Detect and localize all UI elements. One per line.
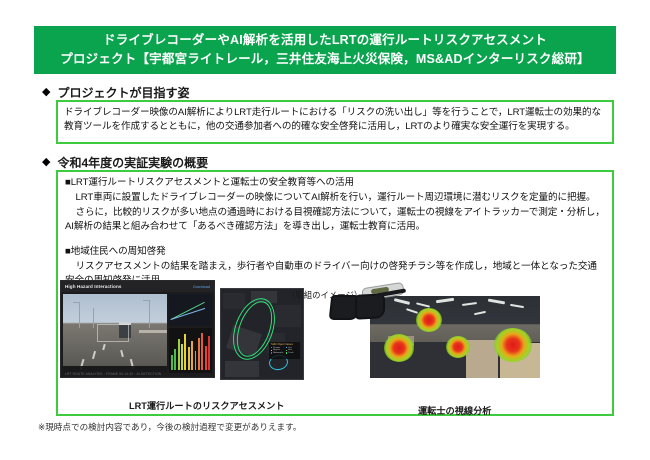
- map-legend-row: PersonCar: [271, 347, 299, 349]
- hazard-bar: [201, 333, 203, 370]
- legend-label: Truck: [288, 352, 293, 354]
- hazard-bar: [181, 344, 183, 370]
- legend-color-swatch: [271, 352, 273, 354]
- gaze-heatmap-point: [446, 336, 470, 358]
- section-heading-outline-label: 令和4年度の実証実験の概要: [57, 154, 208, 171]
- caption-route-risk-assessment: LRT運行ルートのリスクアセスメント: [129, 398, 285, 412]
- block-paragraph-eye-tracker: さらに，比較的リスクが多い地点の通過時における目視確認方法について，運転士の視線…: [65, 206, 606, 233]
- legend-color-swatch: [271, 350, 273, 352]
- gaze-heatmap-point: [384, 334, 414, 362]
- map-legend: Traffic Object ClassesPersonCarBicycleBu…: [269, 342, 300, 359]
- ceiling-light: [436, 298, 454, 303]
- hazard-bar: [191, 341, 193, 370]
- legend-label: Car: [288, 347, 291, 349]
- vision-content-box: ドライブレコーダー映像のAI解析によりLRT走行ルートにおける「リスクの洗い出し…: [56, 100, 614, 144]
- map-legend-item: Truck: [286, 352, 299, 354]
- hazard-bar: [205, 346, 207, 370]
- hazard-bar: [178, 339, 180, 370]
- caption-gaze-analysis: 運転士の視線分析: [418, 403, 492, 417]
- detection-bounding-box: [97, 324, 129, 342]
- vision-body-text: ドライブレコーダー映像のAI解析によりLRT走行ルートにおける「リスクの洗い出し…: [64, 106, 606, 133]
- trend-line-chart: [169, 294, 212, 326]
- ceiling-light: [488, 299, 505, 305]
- dashboard-titlebar: High Hazard Interactions Download: [61, 281, 214, 292]
- pole-arm: [73, 302, 80, 303]
- hazard-bar-chart: [169, 328, 212, 373]
- figure-aerial-route-map: Traffic Object ClassesPersonCarBicycleBu…: [220, 288, 304, 380]
- block-heading-risk-assessment: ■LRT運行ルートリスクアセスメントと運転士の安全教育等への活用: [65, 176, 606, 190]
- ceiling-light: [510, 304, 524, 309]
- legend-color-swatch: [271, 347, 273, 349]
- footnote-disclaimer: ※現時点での検討内容であり，今後の検討過程で変更がありえます。: [38, 421, 301, 433]
- section-heading-vision: ◆ プロジェクトが目指す姿: [42, 84, 189, 101]
- gaze-heatmap-point: [494, 328, 532, 362]
- map-legend-row: MotorcycleTruck: [271, 352, 299, 354]
- map-building: [223, 293, 245, 309]
- utility-pole: [93, 308, 94, 328]
- legend-color-swatch: [286, 350, 288, 352]
- legend-color-swatch: [286, 347, 288, 349]
- block-heading-public-awareness: ■地域住民への周知啓発: [65, 245, 606, 259]
- diamond-bullet-icon: ◆: [42, 87, 50, 98]
- slide-title-banner: ドライブレコーダーやAI解析を活用したLRTの運行ルートリスクアセスメント プロ…: [34, 26, 616, 74]
- hazard-bar: [198, 338, 200, 370]
- slide-title-line-1: ドライブレコーダーやAI解析を活用したLRTの運行ルートリスクアセスメント: [103, 31, 547, 50]
- map-building: [225, 361, 259, 377]
- dashcam-video-frame: [63, 294, 167, 373]
- dashboard-charts-column: [169, 294, 212, 373]
- ceiling-light: [474, 311, 486, 316]
- ceiling-light: [462, 302, 477, 306]
- map-legend-title: Traffic Object Classes: [271, 344, 299, 346]
- block-paragraph-drive-recorder: LRT車両に設置したドライブレコーダーの映像についてAI解析を行い，運行ルート周…: [65, 191, 606, 205]
- legend-label: Person: [273, 347, 280, 349]
- map-legend-item: Motorcycle: [271, 352, 284, 354]
- figure-hazard-dashboard: High Hazard Interactions Download: [60, 280, 215, 378]
- diamond-bullet-icon: ◆: [42, 157, 50, 168]
- hazard-bar: [184, 334, 186, 370]
- map-building: [275, 305, 301, 327]
- slide-title-line-2: プロジェクト【宇都宮ライトレール，三井住友海上火災保険，MS&ADインターリスク…: [60, 50, 589, 69]
- section-heading-outline: ◆ 令和4年度の実証実験の概要: [42, 154, 208, 171]
- gaze-heatmap-point: [416, 308, 442, 332]
- guardrail: [139, 330, 167, 333]
- legend-label: Motorcycle: [273, 352, 283, 354]
- utility-pole: [149, 300, 150, 328]
- map-legend-item: Person: [271, 347, 284, 349]
- dashboard-body: [61, 292, 214, 375]
- dashboard-title: High Hazard Interactions: [65, 284, 122, 289]
- hazard-bar: [174, 349, 176, 370]
- hazard-bar: [188, 347, 190, 370]
- utility-pole: [79, 302, 80, 328]
- dashboard-footer-text: LRT ROUTE ANALYSIS · FRAME 00:14:32 · AI…: [65, 372, 161, 376]
- legend-color-swatch: [286, 352, 288, 354]
- hazard-bar: [171, 355, 173, 370]
- section-heading-vision-label: プロジェクトが目指す姿: [57, 84, 189, 101]
- map-legend-item: Car: [286, 347, 299, 349]
- hazard-bar: [208, 336, 210, 370]
- hazard-bar: [195, 351, 197, 370]
- dashboard-download-link[interactable]: Download: [193, 285, 210, 289]
- pole-arm: [143, 300, 150, 301]
- image-group-label: （取組のイメージ）: [287, 289, 362, 301]
